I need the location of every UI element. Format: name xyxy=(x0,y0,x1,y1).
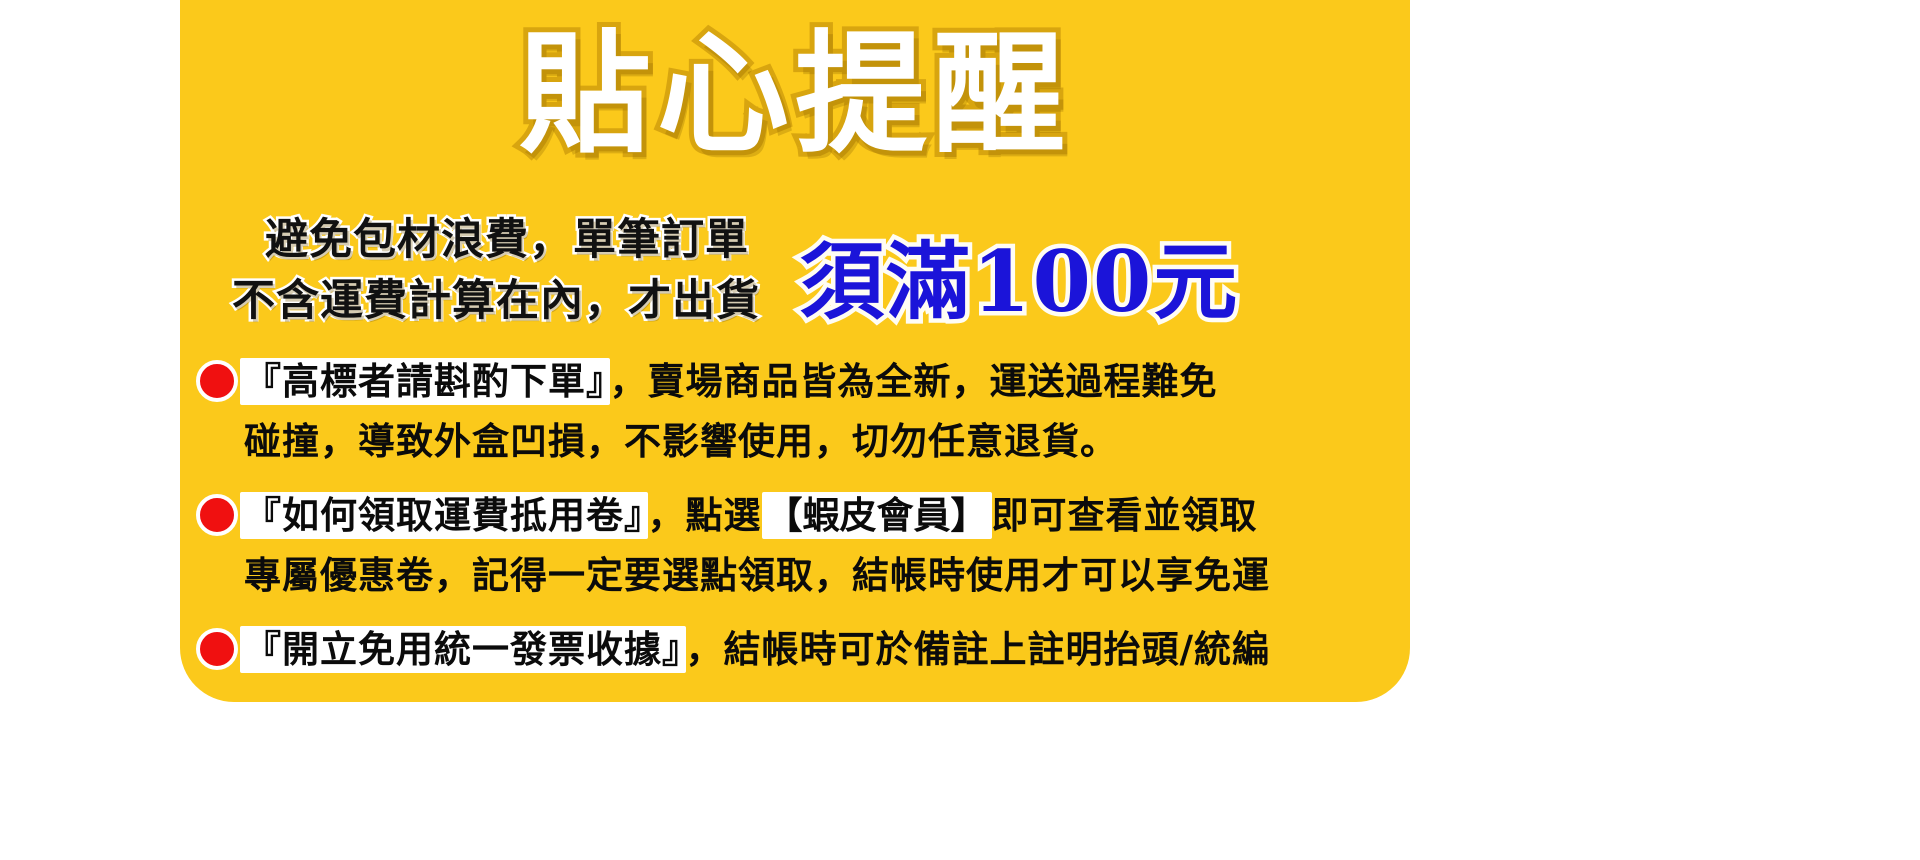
notice-line-2: 不含運費計算在內，才出貨 xyxy=(196,271,796,332)
bullet-2-line-2: 專屬優惠卷，記得一定要選點領取，結帳時使用才可以享免運 xyxy=(196,546,1392,606)
bullet-2-highlight-member: 【蝦皮會員】 xyxy=(762,492,992,539)
bullet-1-highlight: 『高標者請斟酌下單』 xyxy=(240,358,610,405)
bullet-3-text: ，結帳時可於備註上註明抬頭/統編 xyxy=(686,628,1271,671)
minimum-order-amount: 須滿100元 xyxy=(796,240,1396,332)
bullet-1-text: ，賣場商品皆為全新，運送過程難免 xyxy=(610,360,1218,403)
red-dot-icon xyxy=(196,360,238,402)
bullet-2-mid: ，點選 xyxy=(648,494,762,537)
promo-banner: 貼心提醒 避免包材浪費，單筆訂單 不含運費計算在內，才出貨 須滿100元 『高標… xyxy=(0,0,1920,860)
bullet-item-3: 『開立免用統一發票收據』，結帳時可於備註上註明抬頭/統編 xyxy=(196,620,1392,680)
notice-line-1: 避免包材浪費，單筆訂單 xyxy=(196,210,796,271)
bullet-3-line-1: 『開立免用統一發票收據』，結帳時可於備註上註明抬頭/統編 xyxy=(196,620,1392,680)
bullet-1-line-2: 碰撞，導致外盒凹損，不影響使用，切勿任意退貨。 xyxy=(196,412,1392,472)
bullet-2-line-1: 『如何領取運費抵用卷』，點選【蝦皮會員】即可查看並領取 xyxy=(196,486,1392,546)
bullet-3-highlight: 『開立免用統一發票收據』 xyxy=(240,626,686,673)
bullet-item-1: 『高標者請斟酌下單』，賣場商品皆為全新，運送過程難免 碰撞，導致外盒凹損，不影響… xyxy=(196,352,1392,472)
bullet-1-line-1: 『高標者請斟酌下單』，賣場商品皆為全新，運送過程難免 xyxy=(196,352,1392,412)
bullet-list: 『高標者請斟酌下單』，賣場商品皆為全新，運送過程難免 碰撞，導致外盒凹損，不影響… xyxy=(196,352,1392,694)
bullet-2-text: 即可查看並領取 xyxy=(992,494,1258,537)
bullet-item-2: 『如何領取運費抵用卷』，點選【蝦皮會員】即可查看並領取 專屬優惠卷，記得一定要選… xyxy=(196,486,1392,606)
notice-text-block: 避免包材浪費，單筆訂單 不含運費計算在內，才出貨 xyxy=(196,210,796,332)
red-dot-icon xyxy=(196,494,238,536)
notice-summary: 避免包材浪費，單筆訂單 不含運費計算在內，才出貨 須滿100元 xyxy=(196,210,1396,332)
bullet-2-highlight: 『如何領取運費抵用卷』 xyxy=(240,492,648,539)
red-dot-icon xyxy=(196,628,238,670)
